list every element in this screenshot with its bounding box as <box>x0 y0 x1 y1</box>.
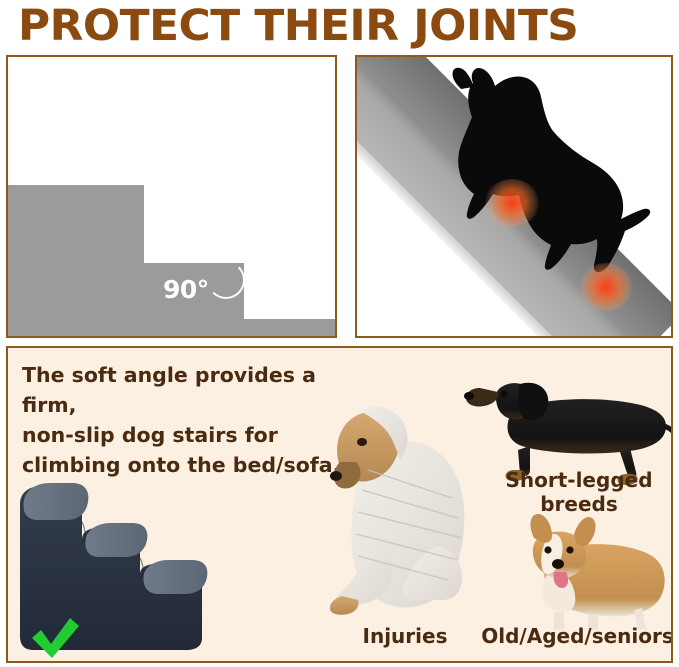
panel-slippery-easy-to-fall: Slippery, easy to fall <box>355 55 673 338</box>
dog-silhouette-icon <box>415 59 665 289</box>
panel-difficulty-of-climbing: 90° Difficulty of climbing <box>6 55 337 338</box>
dachshund-image <box>460 358 673 486</box>
page-title: PROTECT THEIR JOINTS <box>18 2 676 50</box>
use-case-label-short-legged-breeds: Short-legged breeds <box>504 468 654 516</box>
solution-headline-line-2: non-slip dog stairs for <box>22 420 352 450</box>
panel-solution: The soft angle provides a firm, non-slip… <box>6 346 673 663</box>
angle-label: 90° <box>163 277 209 302</box>
solution-headline-line-1: The soft angle provides a firm, <box>22 360 352 420</box>
right-angle-arc-icon <box>207 261 245 299</box>
use-case-label-injuries: Injuries <box>340 624 470 648</box>
stair-step-low <box>242 319 337 338</box>
ramp-illustration: Slippery, easy to fall <box>357 57 671 336</box>
use-case-label-old-aged-seniors: Old/Aged/seniors <box>470 624 673 648</box>
infographic-root: PROTECT THEIR JOINTS 90° Difficulty of c… <box>0 0 679 667</box>
corgi-image <box>494 508 673 643</box>
green-check-icon <box>30 616 80 660</box>
solution-headline: The soft angle provides a firm, non-slip… <box>22 360 352 480</box>
stairs-illustration: 90° Difficulty of climbing <box>8 57 335 336</box>
stair-step-tall <box>6 185 144 338</box>
